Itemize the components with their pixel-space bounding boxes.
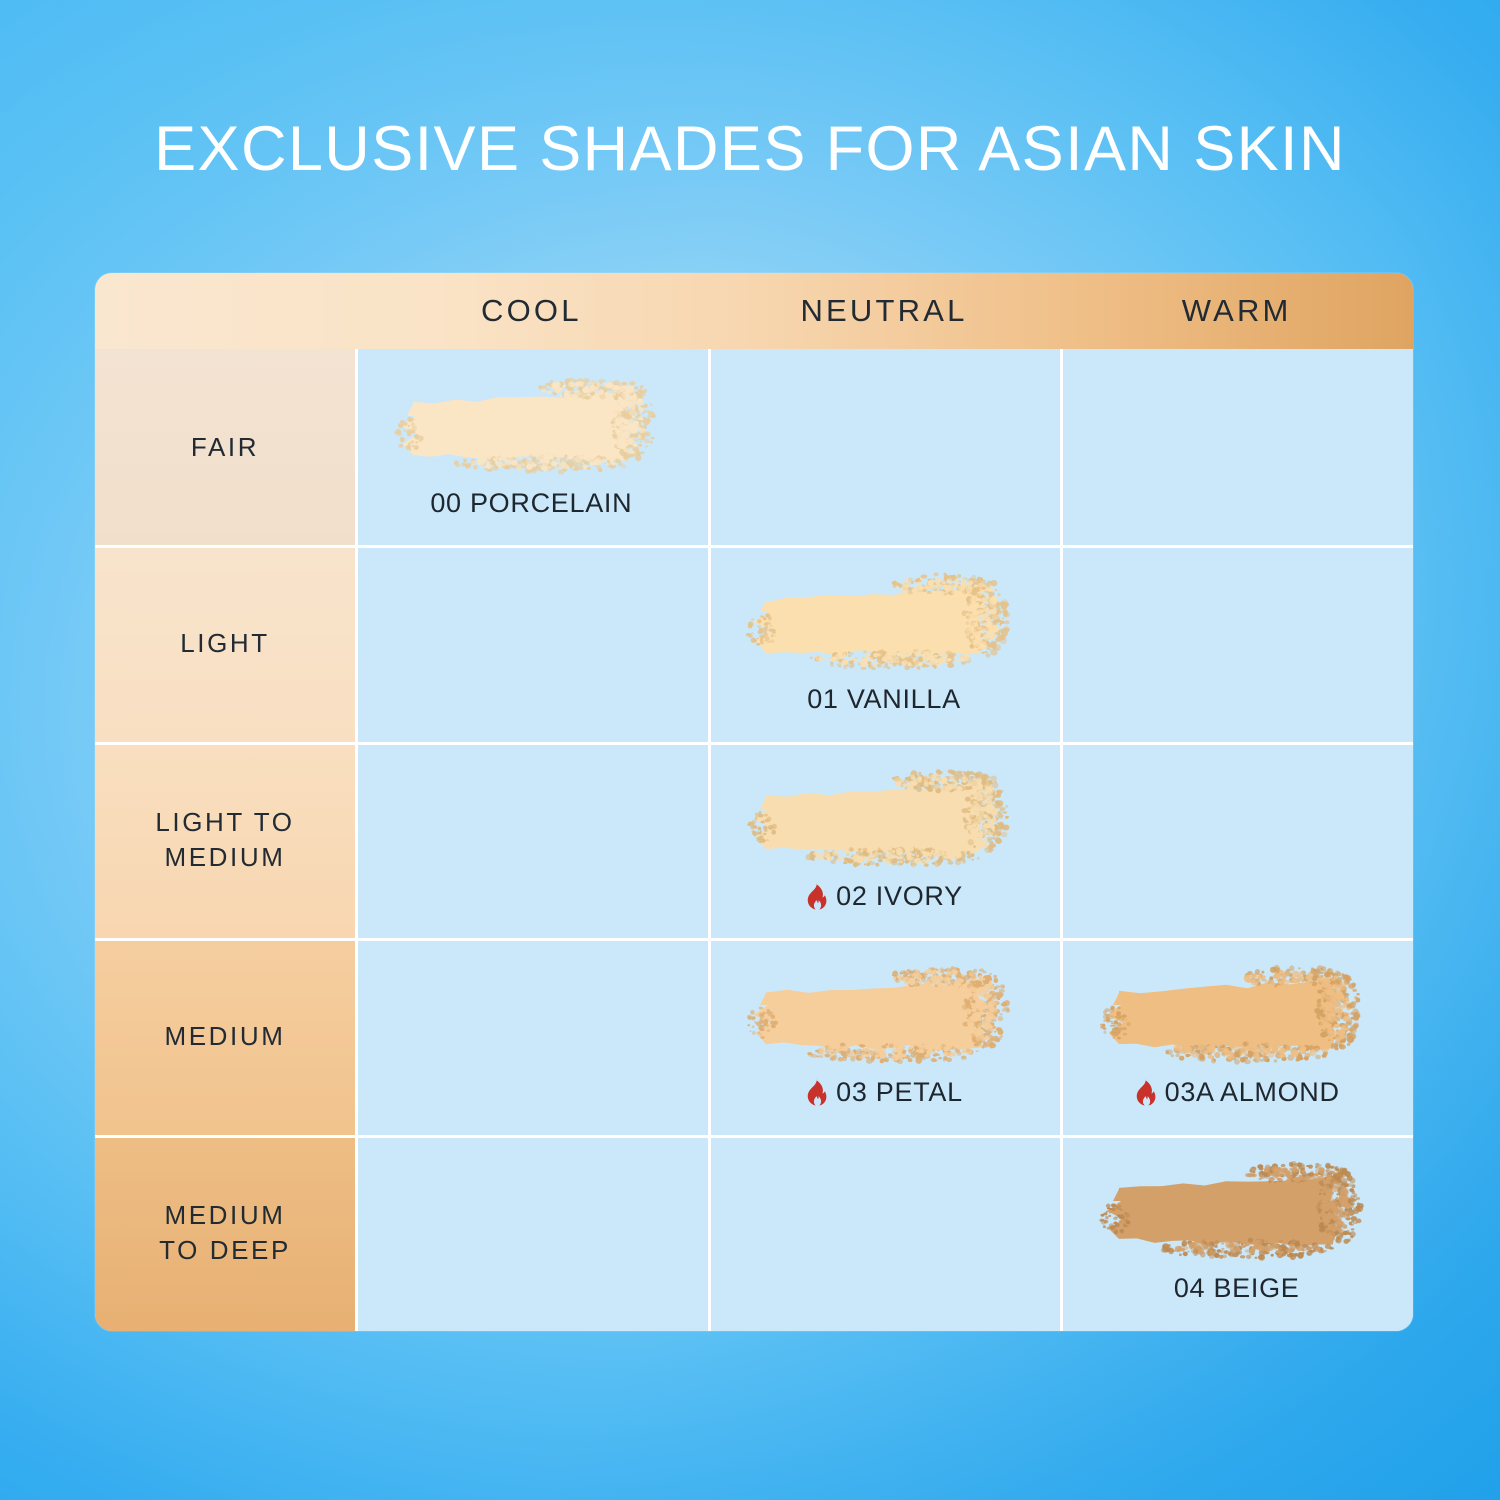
swatch-smear	[744, 572, 1024, 678]
row-label-line: LIGHT TO	[155, 805, 294, 840]
swatch-name: 02 IVORY	[836, 881, 963, 912]
header-cell-corner	[95, 273, 355, 349]
header-cell-cool: COOL	[355, 273, 708, 349]
row-label-line: MEDIUM	[164, 1019, 285, 1054]
swatch-name: 04 BEIGE	[1174, 1273, 1300, 1304]
cell-fair-warm	[1060, 349, 1413, 545]
cell-light-warm	[1060, 545, 1413, 741]
table-row: FAIR 00 PORCELAIN	[95, 349, 1413, 545]
swatch-03a-almond[interactable]: 03A ALMOND	[1097, 965, 1377, 1108]
swatch-name: 03A ALMOND	[1165, 1077, 1340, 1108]
swatch-03-petal[interactable]: 03 PETAL	[744, 965, 1024, 1108]
flame-icon	[805, 882, 827, 910]
cell-medium-to-deep-neutral	[708, 1135, 1061, 1331]
cell-light-cool	[355, 545, 708, 741]
cell-light-neutral[interactable]: 01 VANILLA	[708, 545, 1061, 741]
cell-medium-neutral[interactable]: 03 PETAL	[708, 938, 1061, 1134]
cell-medium-to-deep-cool	[355, 1135, 708, 1331]
page-title: EXCLUSIVE SHADES FOR ASIAN SKIN	[0, 116, 1500, 182]
cell-light-to-medium-neutral[interactable]: 02 IVORY	[708, 742, 1061, 938]
swatch-01-vanilla[interactable]: 01 VANILLA	[744, 572, 1024, 715]
swatch-02-ivory[interactable]: 02 IVORY	[744, 769, 1024, 912]
cell-light-to-medium-warm	[1060, 742, 1413, 938]
swatch-smear	[744, 769, 1024, 875]
shade-chart-table: COOL NEUTRAL WARM FAIR 00 PORCELAIN	[95, 273, 1413, 1331]
swatch-label: 03A ALMOND	[1134, 1077, 1340, 1108]
row-label-light-to-medium: LIGHT TO MEDIUM	[95, 742, 355, 938]
swatch-smear	[1097, 965, 1377, 1071]
cell-medium-cool	[355, 938, 708, 1134]
swatch-label: 01 VANILLA	[807, 684, 961, 715]
swatch-smear	[744, 965, 1024, 1071]
header-cell-warm: WARM	[1060, 273, 1413, 349]
table-body: FAIR 00 PORCELAIN LIGHT	[95, 349, 1413, 1331]
cell-light-to-medium-cool	[355, 742, 708, 938]
swatch-label: 00 PORCELAIN	[430, 488, 632, 519]
cell-fair-neutral	[708, 349, 1061, 545]
swatch-04-beige[interactable]: 04 BEIGE	[1097, 1161, 1377, 1304]
row-label-line: FAIR	[191, 430, 259, 465]
cell-fair-cool[interactable]: 00 PORCELAIN	[355, 349, 708, 545]
row-label-medium: MEDIUM	[95, 938, 355, 1134]
swatch-name: 01 VANILLA	[807, 684, 961, 715]
row-label-line: MEDIUM	[155, 840, 294, 875]
flame-icon	[1134, 1078, 1156, 1106]
row-label-line: LIGHT	[180, 626, 270, 661]
table-header-row: COOL NEUTRAL WARM	[95, 273, 1413, 349]
row-label-line: TO DEEP	[159, 1233, 291, 1268]
table-row: MEDIUM TO DEEP 04 BEIGE	[95, 1135, 1413, 1331]
table-row: LIGHT 01 VANILLA	[95, 545, 1413, 741]
row-label-medium-to-deep: MEDIUM TO DEEP	[95, 1135, 355, 1331]
swatch-name: 03 PETAL	[836, 1077, 963, 1108]
swatch-00-porcelain[interactable]: 00 PORCELAIN	[391, 376, 671, 519]
cell-medium-to-deep-warm[interactable]: 04 BEIGE	[1060, 1135, 1413, 1331]
row-label-light: LIGHT	[95, 545, 355, 741]
swatch-label: 02 IVORY	[805, 881, 963, 912]
table-row: LIGHT TO MEDIUM 02 IVORY	[95, 742, 1413, 938]
swatch-label: 04 BEIGE	[1174, 1273, 1300, 1304]
table-row: MEDIUM 03 PETAL 0	[95, 938, 1413, 1134]
swatch-label: 03 PETAL	[805, 1077, 963, 1108]
row-label-fair: FAIR	[95, 349, 355, 545]
cell-medium-warm[interactable]: 03A ALMOND	[1060, 938, 1413, 1134]
row-label-line: MEDIUM	[159, 1198, 291, 1233]
swatch-smear	[1097, 1161, 1377, 1267]
swatch-name: 00 PORCELAIN	[430, 488, 632, 519]
flame-icon	[805, 1078, 827, 1106]
header-cell-neutral: NEUTRAL	[708, 273, 1061, 349]
swatch-smear	[391, 376, 671, 482]
